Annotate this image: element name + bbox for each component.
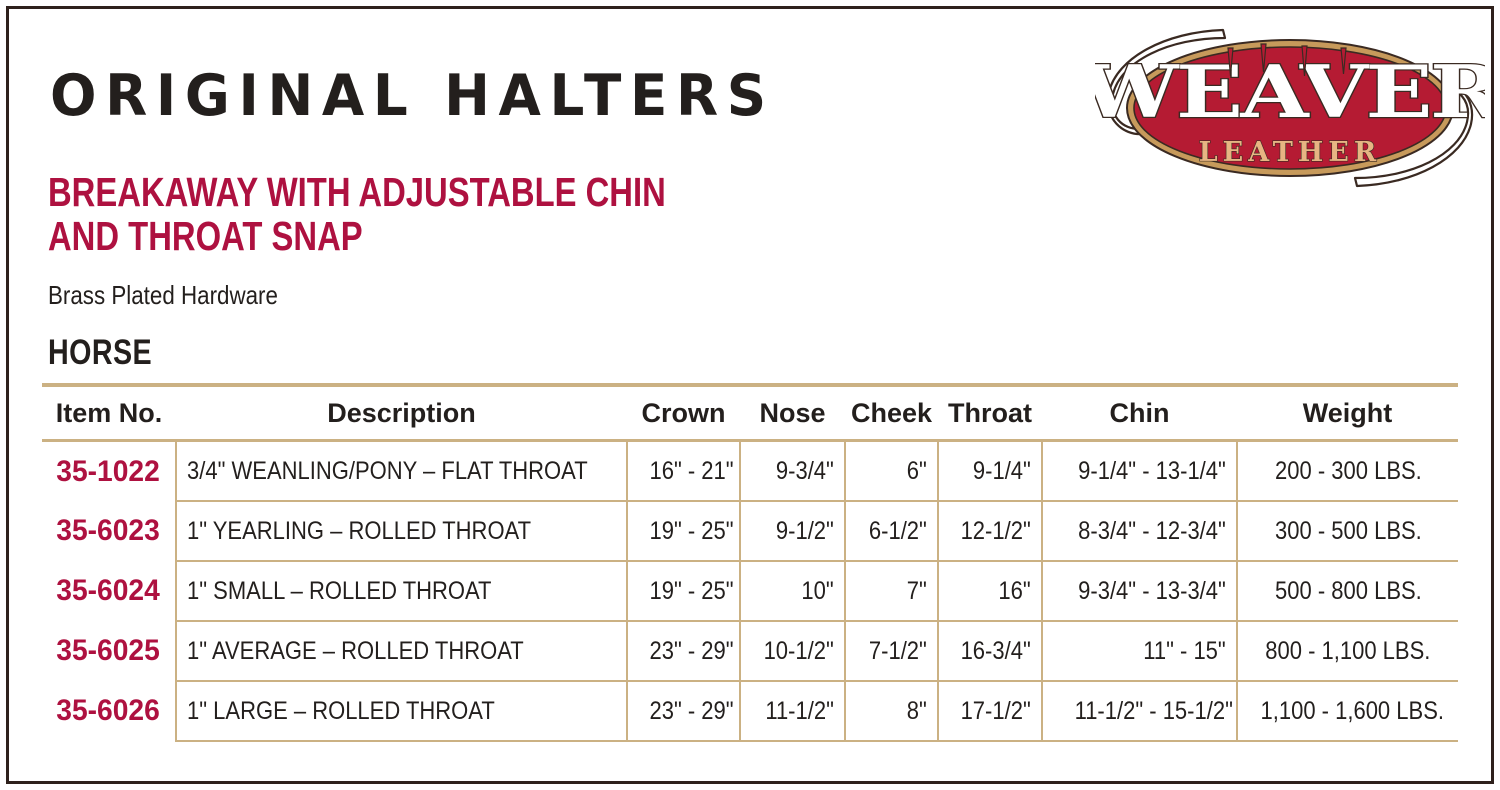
cell-cheek: 6" (845, 441, 938, 502)
cell-chin: 9-1/4" - 13-1/4" (1042, 441, 1237, 502)
hardware-note: Brass Plated Hardware (48, 280, 278, 311)
cell-description: 1" YEARLING – ROLLED THROAT (176, 501, 627, 561)
cell-chin: 11" - 15" (1042, 621, 1237, 681)
col-header-cheek: Cheek (845, 398, 938, 441)
col-header-weight: Weight (1237, 398, 1458, 441)
logo-brand-text: WEAVER (1095, 50, 1485, 134)
cell-description: 1" AVERAGE – ROLLED THROAT (176, 621, 627, 681)
cell-description: 1" SMALL – ROLLED THROAT (176, 561, 627, 621)
cell-item-no[interactable]: 35-1022 (42, 441, 176, 502)
cell-crown: 16" - 21" (627, 441, 740, 502)
cell-throat: 12-1/2" (938, 501, 1042, 561)
cell-chin: 9-3/4" - 13-3/4" (1042, 561, 1237, 621)
page-subtitle: BREAKAWAY WITH ADJUSTABLE CHIN AND THROA… (48, 170, 768, 258)
cell-weight: 500 - 800 LBS. (1237, 561, 1458, 621)
col-header-item-no: Item No. (42, 398, 176, 441)
cell-throat: 9-1/4" (938, 441, 1042, 502)
table-row: 35-1022 3/4" WEANLING/PONY – FLAT THROAT… (42, 441, 1458, 502)
cell-item-no[interactable]: 35-6026 (42, 681, 176, 741)
cell-nose: 9-3/4" (740, 441, 845, 502)
section-divider (42, 383, 1458, 387)
cell-cheek: 7-1/2" (845, 621, 938, 681)
table-row: 35-6025 1" AVERAGE – ROLLED THROAT 23" -… (42, 621, 1458, 681)
logo-sub-brand-text: LEATHER (1199, 137, 1382, 168)
cell-weight: 800 - 1,100 LBS. (1237, 621, 1458, 681)
page-title: ORIGINAL HALTERS (50, 68, 775, 125)
svg-text:WEAVER: WEAVER (1095, 50, 1485, 134)
col-header-nose: Nose (740, 398, 845, 441)
cell-weight: 300 - 500 LBS. (1237, 501, 1458, 561)
cell-item-no[interactable]: 35-6023 (42, 501, 176, 561)
col-header-chin: Chin (1042, 398, 1237, 441)
cell-crown: 19" - 25" (627, 501, 740, 561)
cell-chin: 8-3/4" - 12-3/4" (1042, 501, 1237, 561)
cell-description: 3/4" WEANLING/PONY – FLAT THROAT (176, 441, 627, 502)
col-header-crown: Crown (627, 398, 740, 441)
cell-chin: 11-1/2" - 15-1/2" (1042, 681, 1237, 741)
cell-nose: 11-1/2" (740, 681, 845, 741)
spec-table: Item No. Description Crown Nose Cheek Th… (42, 398, 1458, 742)
cell-crown: 19" - 25" (627, 561, 740, 621)
cell-weight: 200 - 300 LBS. (1237, 441, 1458, 502)
cell-description: 1" LARGE – ROLLED THROAT (176, 681, 627, 741)
cell-cheek: 7" (845, 561, 938, 621)
cell-weight: 1,100 - 1,600 LBS. (1237, 681, 1458, 741)
table-header-row: Item No. Description Crown Nose Cheek Th… (42, 398, 1458, 441)
section-heading-horse: HORSE (48, 333, 152, 373)
cell-crown: 23" - 29" (627, 681, 740, 741)
cell-cheek: 6-1/2" (845, 501, 938, 561)
col-header-throat: Throat (938, 398, 1042, 441)
cell-nose: 10" (740, 561, 845, 621)
cell-item-no[interactable]: 35-6025 (42, 621, 176, 681)
spec-sheet-page: ORIGINAL HALTERS BREAKAWAY WITH ADJUSTAB… (0, 0, 1500, 790)
table-row: 35-6023 1" YEARLING – ROLLED THROAT 19" … (42, 501, 1458, 561)
cell-item-no[interactable]: 35-6024 (42, 561, 176, 621)
table-row: 35-6026 1" LARGE – ROLLED THROAT 23" - 2… (42, 681, 1458, 741)
cell-cheek: 8" (845, 681, 938, 741)
cell-nose: 9-1/2" (740, 501, 845, 561)
cell-throat: 16" (938, 561, 1042, 621)
weaver-leather-logo: WEAVER LEATHER (1095, 18, 1485, 198)
cell-throat: 16-3/4" (938, 621, 1042, 681)
cell-crown: 23" - 29" (627, 621, 740, 681)
cell-nose: 10-1/2" (740, 621, 845, 681)
col-header-description: Description (176, 398, 627, 441)
table-row: 35-6024 1" SMALL – ROLLED THROAT 19" - 2… (42, 561, 1458, 621)
spec-table-wrapper: Item No. Description Crown Nose Cheek Th… (42, 398, 1458, 742)
cell-throat: 17-1/2" (938, 681, 1042, 741)
